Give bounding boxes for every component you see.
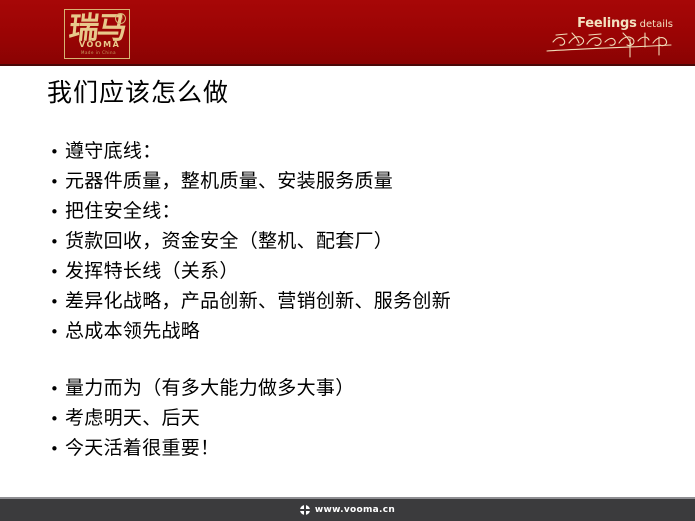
globe-icon bbox=[300, 505, 310, 515]
page-title: 我们应该怎么做 bbox=[47, 78, 229, 108]
bullet-dot-icon: • bbox=[50, 435, 65, 464]
bullet-dot-icon: • bbox=[50, 258, 65, 287]
logo-sub-text: Made in China bbox=[81, 50, 116, 55]
website-url[interactable]: www.vooma.cn bbox=[315, 505, 395, 515]
list-item: •货款回收，资金安全（整机、配套厂） bbox=[50, 227, 670, 257]
bullet-dot-icon: • bbox=[50, 375, 65, 404]
bullet-dot-icon: • bbox=[50, 168, 65, 197]
brand-logo[interactable]: 瑞马 ® VOOMA Made in China bbox=[52, 7, 148, 63]
bullet-dot-icon: • bbox=[50, 198, 65, 227]
bullet-dot-icon: • bbox=[50, 405, 65, 434]
list-item-label: 量力而为（有多大能力做多大事） bbox=[65, 374, 355, 403]
list-item: •遵守底线： bbox=[50, 137, 670, 167]
slide-header: 瑞马 ® VOOMA Made in China Feelingsdetails bbox=[0, 0, 695, 66]
bullet-dot-icon: • bbox=[50, 228, 65, 257]
list-item-label: 遵守底线： bbox=[65, 137, 162, 166]
list-item: •量力而为（有多大能力做多大事） bbox=[50, 374, 670, 404]
list-item-label: 差异化战略，产品创新、营销创新、服务创新 bbox=[65, 287, 451, 316]
slide-footer: www.vooma.cn bbox=[0, 497, 695, 521]
list-item: •总成本领先战略 bbox=[50, 317, 670, 347]
bullet-list: •遵守底线：•元器件质量，整机质量、安装服务质量•把住安全线：•货款回收，资金安… bbox=[50, 137, 670, 464]
bullet-dot-icon: • bbox=[50, 288, 65, 317]
list-item: •发挥特长线（关系） bbox=[50, 257, 670, 287]
footer-content: www.vooma.cn bbox=[300, 505, 395, 515]
list-item-label: 考虑明天、后天 bbox=[65, 404, 200, 433]
bullet-dot-icon: • bbox=[50, 318, 65, 347]
logo-latin-name: VOOMA bbox=[79, 40, 120, 49]
signature-icon bbox=[545, 29, 673, 59]
list-item-label: 总成本领先战略 bbox=[65, 317, 200, 346]
list-item: •考虑明天、后天 bbox=[50, 404, 670, 434]
brand-tagline: Feelingsdetails bbox=[543, 12, 673, 60]
list-item-label: 元器件质量，整机质量、安装服务质量 bbox=[65, 167, 393, 196]
list-item-label: 今天活着很重要！ bbox=[65, 434, 219, 463]
list-item: •把住安全线： bbox=[50, 197, 670, 227]
list-item-label: 把住安全线： bbox=[65, 197, 181, 226]
list-item-label: 发挥特长线（关系） bbox=[65, 257, 239, 286]
list-item: •今天活着很重要！ bbox=[50, 434, 670, 464]
bullet-dot-icon: • bbox=[50, 138, 65, 167]
list-item-label: 货款回收，资金安全（整机、配套厂） bbox=[65, 227, 393, 256]
list-item: •差异化战略，产品创新、营销创新、服务创新 bbox=[50, 287, 670, 317]
logo-frame: 瑞马 ® VOOMA Made in China bbox=[64, 9, 130, 59]
list-item: •元器件质量，整机质量、安装服务质量 bbox=[50, 167, 670, 197]
registered-trademark-icon: ® bbox=[115, 13, 126, 24]
